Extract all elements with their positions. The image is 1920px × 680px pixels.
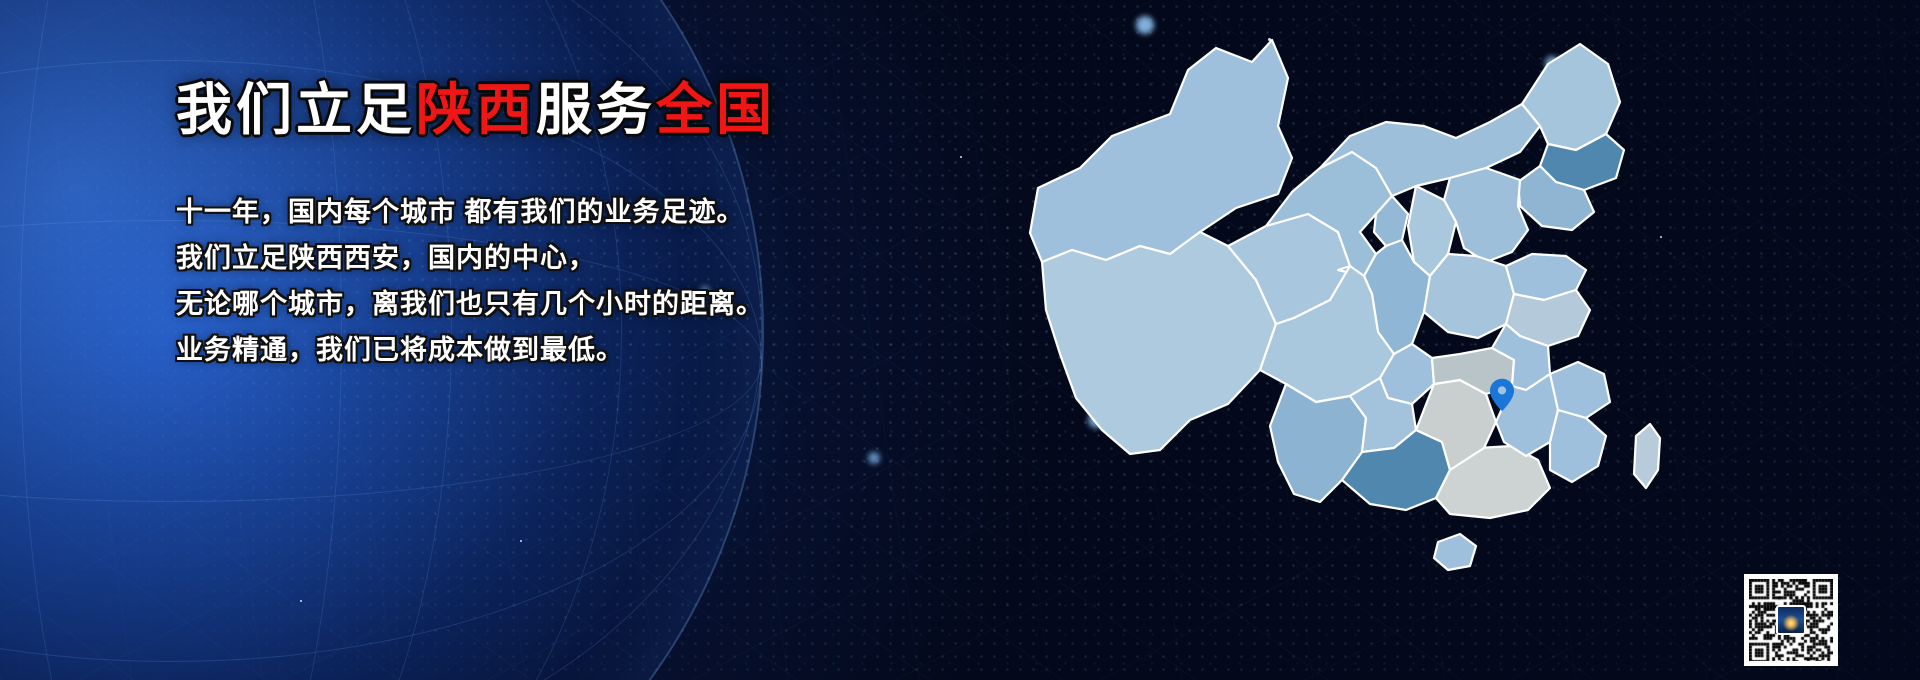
province-hebei xyxy=(1444,168,1528,262)
headline-segment-3: 服务 xyxy=(536,78,656,141)
star-dot xyxy=(520,540,522,542)
province-xinjiang xyxy=(1030,40,1292,262)
province-hainan xyxy=(1434,534,1476,570)
headline-segment-4: 全国 xyxy=(656,78,776,141)
body-line-2: 我们立足陕西西安，国内的中心， xyxy=(176,235,856,281)
headline-segment-2: 陕西 xyxy=(416,78,536,141)
location-pin-icon xyxy=(1489,378,1515,412)
qr-center-logo xyxy=(1776,605,1806,635)
light-glow xyxy=(868,452,880,464)
page-title: 我们立足陕西服务全国 xyxy=(176,80,856,139)
headline-segment-1: 我们立足 xyxy=(176,78,416,141)
body-line-1: 十一年，国内每个城市 都有我们的业务足迹。 xyxy=(176,189,856,235)
body-copy: 十一年，国内每个城市 都有我们的业务足迹。 我们立足陕西西安，国内的中心， 无论… xyxy=(176,189,856,373)
province-henan xyxy=(1424,254,1514,338)
china-map xyxy=(1020,18,1820,668)
province-fujian xyxy=(1550,410,1606,482)
body-line-3: 无论哪个城市，离我们也只有几个小时的距离。 xyxy=(176,281,856,327)
hero-banner: 我们立足陕西服务全国 十一年，国内每个城市 都有我们的业务足迹。 我们立足陕西西… xyxy=(0,0,1920,680)
province-taiwan xyxy=(1634,424,1660,488)
star-dot xyxy=(960,156,962,158)
province-xizang xyxy=(1042,232,1276,454)
body-line-4: 业务精通，我们已将成本做到最低。 xyxy=(176,327,856,373)
star-dot xyxy=(300,600,302,602)
wechat-qr-code[interactable] xyxy=(1744,574,1838,666)
copy-block: 我们立足陕西服务全国 十一年，国内每个城市 都有我们的业务足迹。 我们立足陕西西… xyxy=(176,80,856,373)
